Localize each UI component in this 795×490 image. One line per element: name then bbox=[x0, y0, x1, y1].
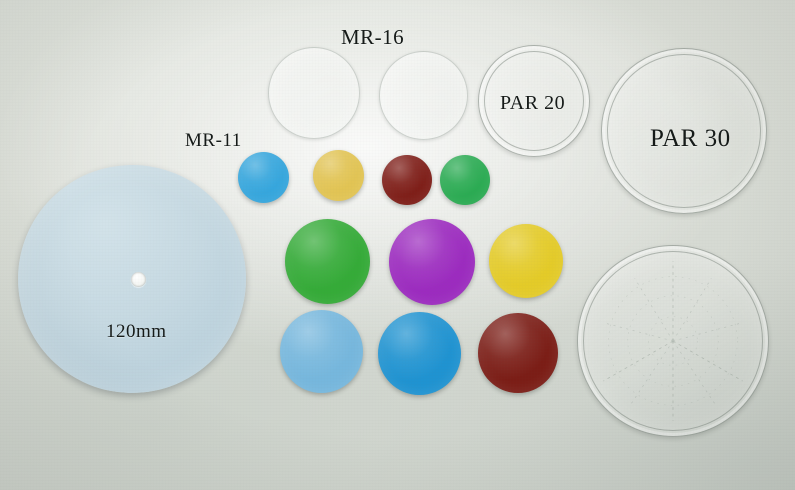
filter-disc-green-medium[interactable] bbox=[285, 219, 370, 304]
filter-disc-purple-medium[interactable] bbox=[389, 219, 475, 305]
filter-disc-lightblue-large[interactable] bbox=[280, 310, 363, 393]
label-par-20: PAR 20 bbox=[500, 92, 565, 115]
mr16-clear-disc-right[interactable] bbox=[379, 51, 468, 140]
label-120mm: 120mm bbox=[106, 321, 167, 343]
label-mr-16: MR-16 bbox=[341, 25, 404, 50]
mr16-clear-disc-left[interactable] bbox=[268, 47, 360, 139]
label-mr-11: MR-11 bbox=[185, 130, 242, 152]
filter-disc-blue-small[interactable] bbox=[238, 152, 289, 203]
filter-disc-blue-large[interactable] bbox=[378, 312, 461, 395]
photo-scene: MR-11 MR-16 PAR 20 PAR 30 120mm bbox=[0, 0, 795, 490]
label-par-30: PAR 30 bbox=[650, 125, 731, 153]
center-mounting-hole bbox=[131, 272, 146, 287]
filter-disc-green-small[interactable] bbox=[440, 155, 490, 205]
par30-textured-lens-cover[interactable] bbox=[577, 245, 769, 437]
fresnel-texture bbox=[586, 254, 760, 428]
filter-disc-yellow-small[interactable] bbox=[313, 150, 364, 201]
filter-disc-darkred-small[interactable] bbox=[382, 155, 432, 205]
filter-disc-darkred-large[interactable] bbox=[478, 313, 558, 393]
filter-disc-yellow-medium[interactable] bbox=[489, 224, 563, 298]
